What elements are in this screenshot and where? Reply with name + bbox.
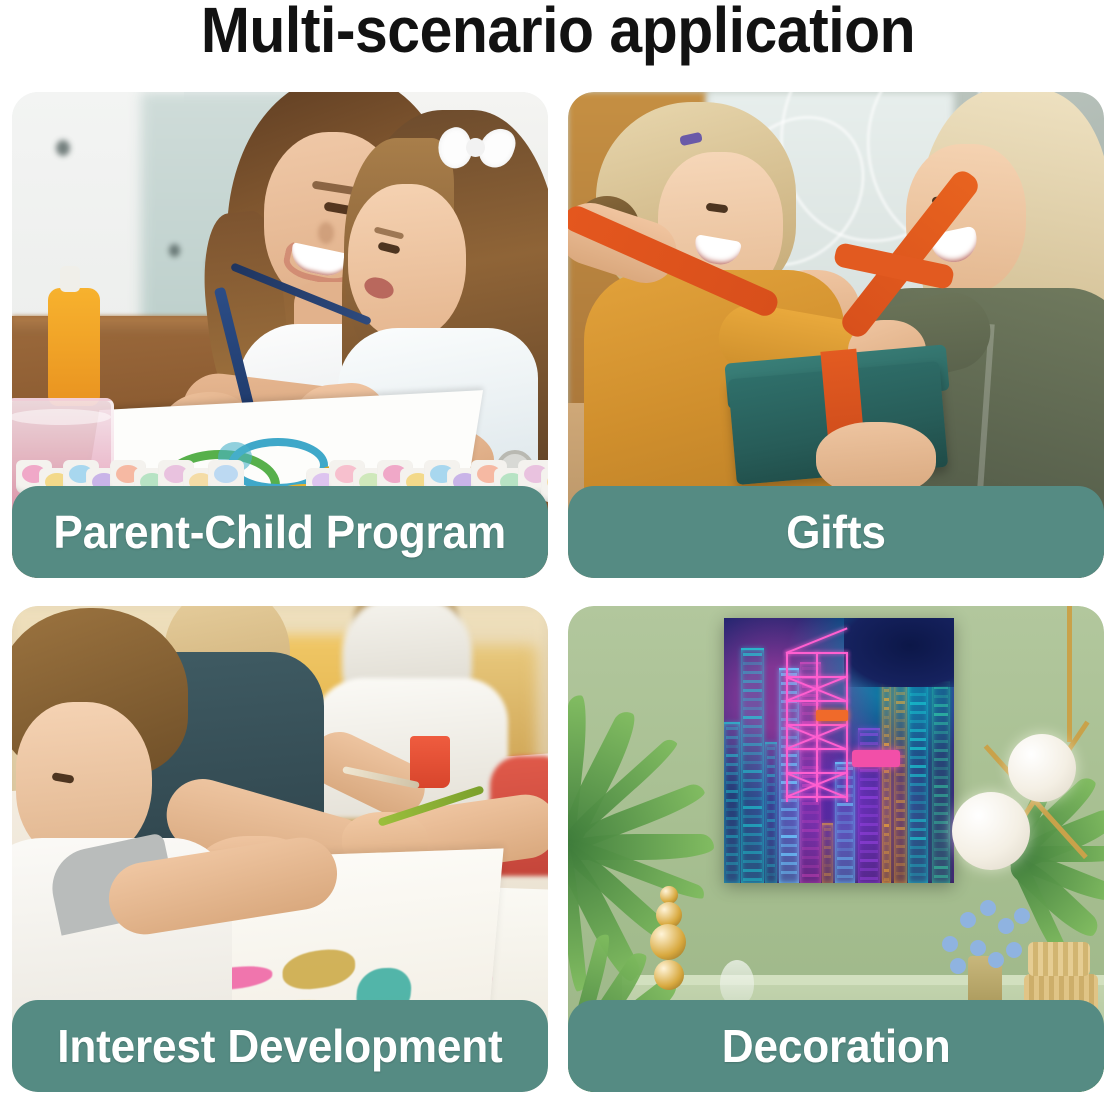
building-window (910, 846, 926, 849)
building-window (884, 806, 889, 809)
scenario-card-gifts[interactable]: Gifts (568, 92, 1104, 578)
building-window (781, 871, 797, 874)
building-window (860, 742, 878, 745)
building-window (896, 800, 905, 803)
building-window (837, 839, 853, 842)
building-window (910, 873, 926, 876)
red-cup (410, 736, 450, 788)
building-window (743, 824, 762, 827)
building-window (743, 707, 762, 710)
building-window (824, 846, 831, 849)
building-window (934, 830, 948, 833)
building-window (934, 821, 948, 824)
building-window (824, 873, 831, 876)
building-window (802, 874, 819, 877)
building-window (802, 865, 819, 868)
building-window (910, 837, 926, 840)
building-window (884, 833, 889, 836)
scenario-grid: Parent-Child Program (12, 92, 1104, 1092)
building-window (743, 662, 762, 665)
building-window (896, 827, 905, 830)
building-window (837, 848, 853, 851)
orange-billboard (816, 710, 848, 721)
building-window (781, 853, 797, 856)
building-window (743, 878, 762, 881)
neon-building (822, 823, 833, 883)
building-window (910, 756, 926, 759)
building-window (860, 850, 878, 853)
building-window (896, 701, 905, 704)
building-window (802, 811, 819, 814)
building-window (743, 725, 762, 728)
building-window (896, 791, 905, 794)
building-window (743, 680, 762, 683)
lattice-column (786, 652, 788, 802)
building-window (743, 653, 762, 656)
building-window (896, 728, 905, 731)
building-window (934, 731, 948, 734)
building-window (884, 779, 889, 782)
caption-bar-parent-child-program: Parent-Child Program (12, 486, 548, 578)
caption-bar-interest-development: Interest Development (12, 1000, 548, 1092)
flower-bloom (960, 912, 976, 928)
building-window (884, 716, 889, 719)
building-window (743, 770, 762, 773)
building-window (896, 854, 905, 857)
building-window (743, 671, 762, 674)
building-window (910, 720, 926, 723)
building-window (743, 716, 762, 719)
building-window (896, 773, 905, 776)
building-window (934, 857, 948, 860)
building-window (743, 761, 762, 764)
building-window (743, 815, 762, 818)
paint-pot-lid (547, 473, 548, 491)
building-window (934, 794, 948, 797)
building-window (896, 872, 905, 875)
building-window (884, 689, 889, 692)
cabinet-handle-1 (169, 244, 180, 257)
building-window (802, 802, 819, 805)
building-window (767, 828, 775, 831)
building-window (860, 787, 878, 790)
pink-billboard (852, 750, 900, 767)
building-window (837, 812, 853, 815)
building-window (910, 864, 926, 867)
building-window (860, 733, 878, 736)
flower-bloom (942, 936, 958, 952)
woman-hand-holding-box (816, 422, 936, 496)
building-window (860, 769, 878, 772)
building-window (860, 877, 878, 880)
building-window (884, 869, 889, 872)
building-window (781, 817, 797, 820)
building-window (934, 749, 948, 752)
building-window (934, 722, 948, 725)
building-window (934, 803, 948, 806)
building-window (743, 779, 762, 782)
building-window (884, 851, 889, 854)
flower-bloom (998, 918, 1014, 934)
building-window (767, 819, 775, 822)
scenario-card-decoration[interactable]: Decoration (568, 606, 1104, 1092)
building-window (910, 693, 926, 696)
building-window (896, 746, 905, 749)
building-window (837, 821, 853, 824)
paper-background (161, 697, 377, 827)
caption-label: Decoration (722, 1023, 951, 1069)
building-window (934, 704, 948, 707)
building-window (884, 842, 889, 845)
building-window (824, 864, 831, 867)
building-window (934, 758, 948, 761)
building-window (934, 812, 948, 815)
building-window (910, 819, 926, 822)
building-window (802, 856, 819, 859)
building-window (767, 801, 775, 804)
lattice-column (846, 652, 848, 802)
building-window (767, 864, 775, 867)
lamp-orb-lower (952, 792, 1030, 870)
flower-bloom (1014, 908, 1030, 924)
lattice-tower (786, 652, 842, 802)
building-window (767, 756, 775, 759)
building-window (884, 707, 889, 710)
building-window (884, 698, 889, 701)
building-window (934, 785, 948, 788)
building-window (910, 783, 926, 786)
building-window (743, 689, 762, 692)
building-window (860, 859, 878, 862)
flower-bloom (950, 958, 966, 974)
building-window (743, 752, 762, 755)
building-window (910, 801, 926, 804)
building-window (802, 847, 819, 850)
building-window (860, 841, 878, 844)
building-window (824, 828, 831, 831)
building-window (934, 740, 948, 743)
building-window (934, 713, 948, 716)
building-window (802, 838, 819, 841)
hair-bow (442, 128, 508, 168)
building-window (743, 797, 762, 800)
building-window (884, 734, 889, 737)
building-window (934, 866, 948, 869)
building-window (934, 875, 948, 878)
building-window (860, 814, 878, 817)
building-window (884, 725, 889, 728)
building-window (837, 803, 853, 806)
building-window (802, 829, 819, 832)
building-window (896, 845, 905, 848)
building-window (860, 868, 878, 871)
building-window (884, 878, 889, 881)
gold-ornament (650, 886, 686, 996)
building-window (743, 734, 762, 737)
page-title: Multi-scenario application (45, 0, 1072, 66)
building-window (837, 875, 853, 878)
building-window (910, 792, 926, 795)
building-window (934, 695, 948, 698)
building-window (896, 782, 905, 785)
building-window (743, 743, 762, 746)
building-window (910, 855, 926, 858)
neon-building (894, 660, 907, 883)
blue-flowers (936, 896, 1022, 964)
building-window (884, 743, 889, 746)
lamp-rod-vertical (1067, 606, 1072, 742)
building-window (910, 828, 926, 831)
gold-sphere (650, 924, 686, 960)
building-window (802, 820, 819, 823)
building-window (884, 860, 889, 863)
neon-building (765, 742, 777, 883)
scenario-card-interest-development[interactable]: Interest Development (12, 606, 548, 1092)
building-window (767, 837, 775, 840)
building-window (743, 851, 762, 854)
building-window (884, 788, 889, 791)
neon-city-artwork (724, 618, 954, 883)
building-window (896, 710, 905, 713)
building-window (884, 815, 889, 818)
building-window (896, 863, 905, 866)
building-window (824, 855, 831, 858)
building-window (781, 835, 797, 838)
building-window (896, 809, 905, 812)
building-window (743, 833, 762, 836)
building-window (896, 818, 905, 821)
gold-sphere (654, 960, 684, 990)
scenario-card-parent-child-program[interactable]: Parent-Child Program (12, 92, 548, 578)
flower-bloom (970, 940, 986, 956)
building-window (896, 692, 905, 695)
building-window (824, 837, 831, 840)
building-window (767, 846, 775, 849)
building-window (767, 792, 775, 795)
building-window (743, 698, 762, 701)
lamp-orb-upper (1008, 734, 1076, 802)
building-window (837, 857, 853, 860)
building-window (910, 747, 926, 750)
caption-label: Gifts (786, 509, 886, 555)
caption-label: Parent-Child Program (54, 509, 507, 555)
building-window (743, 860, 762, 863)
orange-bottle (48, 288, 100, 406)
neon-building (908, 670, 928, 883)
building-window (767, 855, 775, 858)
building-window (743, 842, 762, 845)
building-window (896, 737, 905, 740)
building-window (934, 848, 948, 851)
building-window (781, 808, 797, 811)
building-window (837, 866, 853, 869)
building-window (860, 796, 878, 799)
building-window (781, 844, 797, 847)
building-window (934, 776, 948, 779)
building-window (837, 830, 853, 833)
building-window (860, 805, 878, 808)
building-window (743, 806, 762, 809)
paint-pot-lid (214, 465, 238, 483)
building-window (910, 765, 926, 768)
building-window (767, 774, 775, 777)
flower-bloom (1006, 942, 1022, 958)
building-window (896, 719, 905, 722)
building-window (910, 810, 926, 813)
building-window (781, 826, 797, 829)
building-window (743, 869, 762, 872)
caption-bar-decoration: Decoration (568, 1000, 1104, 1092)
building-window (896, 836, 905, 839)
building-window (767, 873, 775, 876)
building-window (884, 824, 889, 827)
door-knob (56, 140, 70, 156)
building-window (884, 797, 889, 800)
building-window (781, 862, 797, 865)
building-window (884, 770, 889, 773)
building-window (910, 729, 926, 732)
building-window (934, 767, 948, 770)
building-window (767, 783, 775, 786)
building-window (767, 747, 775, 750)
neon-building (932, 681, 950, 883)
building-window (910, 702, 926, 705)
caption-label: Interest Development (57, 1023, 502, 1069)
bow-knot (466, 138, 485, 157)
building-window (910, 711, 926, 714)
building-window (910, 774, 926, 777)
building-window (934, 839, 948, 842)
flower-bloom (980, 900, 996, 916)
building-window (767, 765, 775, 768)
building-window (910, 738, 926, 741)
paint-stroke (282, 945, 355, 993)
flower-bloom (988, 952, 1004, 968)
building-window (743, 788, 762, 791)
building-window (860, 832, 878, 835)
neon-building (741, 648, 764, 883)
lattice-column (816, 652, 818, 802)
woven-basket-upper (1028, 942, 1090, 976)
building-window (860, 778, 878, 781)
night-sky (844, 618, 954, 687)
building-window (767, 810, 775, 813)
caption-bar-gifts: Gifts (568, 486, 1104, 578)
building-window (860, 823, 878, 826)
